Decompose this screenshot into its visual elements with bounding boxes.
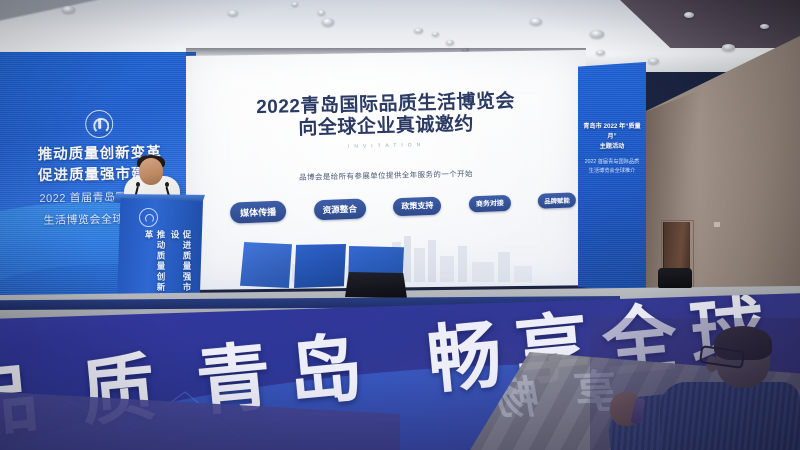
quality-emblem-icon: [139, 208, 158, 227]
wall-switch-icon: [714, 222, 720, 227]
downlight-icon: [760, 24, 769, 29]
microphone-head-icon: [165, 182, 169, 187]
downlight-icon: [596, 50, 605, 55]
stage-led-panel: [294, 244, 346, 288]
quality-emblem-icon: [85, 110, 113, 138]
stage-monitor-speaker: [658, 268, 692, 288]
slide-title-block: 2022青岛国际品质生活博览会 向全球企业真诚邀约 INVITATION: [186, 89, 586, 154]
downlight-icon: [722, 44, 735, 51]
right-banner-headline-1: 青岛市 2022 年“质量月”: [583, 123, 640, 140]
slide-tag-business: 商务对接: [469, 194, 512, 212]
right-banner: 青岛市 2022 年“质量月” 主题活动 2022 首届青岛国际品质 生活博览会…: [578, 62, 646, 294]
right-banner-headline: 青岛市 2022 年“质量月” 主题活动: [582, 122, 642, 152]
downlight-icon: [228, 10, 238, 16]
fg-char-5: 畅: [425, 320, 505, 397]
downlight-icon: [530, 18, 542, 25]
fg-char-4: 岛: [285, 333, 365, 410]
microphone-head-icon: [136, 182, 140, 187]
downlight-icon: [648, 58, 659, 64]
podium: 推动质量创新变革 促进质量强市建设: [117, 198, 203, 306]
right-banner-sub-2: 生活博览会全球推介: [589, 168, 636, 174]
stage-monitor-speaker: [345, 272, 407, 298]
slide-tag-media: 媒体传播: [230, 200, 287, 223]
downlight-icon: [318, 10, 325, 15]
slide-tag-policy: 政策支持: [393, 196, 442, 216]
right-banner-headline-2: 主题活动: [600, 143, 625, 150]
downlight-icon: [62, 6, 75, 13]
downlight-icon: [684, 12, 694, 18]
downlight-icon: [590, 30, 604, 38]
right-banner-sub-1: 2022 首届青岛国际品质: [585, 159, 639, 165]
stage-led-panel: [240, 242, 292, 288]
downlight-icon: [414, 28, 423, 33]
conference-photo: 推动质量创新变革 促进质量强市建设 2022 首届青岛国际品质 生活博览会全球推…: [0, 0, 800, 450]
right-banner-sub: 2022 首届青岛国际品质 生活博览会全球推介: [582, 158, 642, 176]
downlight-icon: [322, 18, 334, 26]
downlight-icon: [446, 40, 454, 45]
speaker-head: [139, 158, 163, 185]
slide-tag-brand: 品牌赋能: [538, 192, 576, 208]
attendee-body: [660, 382, 800, 450]
downlight-icon: [292, 2, 298, 6]
slide-tag-resource: 资源整合: [313, 198, 366, 220]
downlight-icon: [432, 32, 439, 36]
